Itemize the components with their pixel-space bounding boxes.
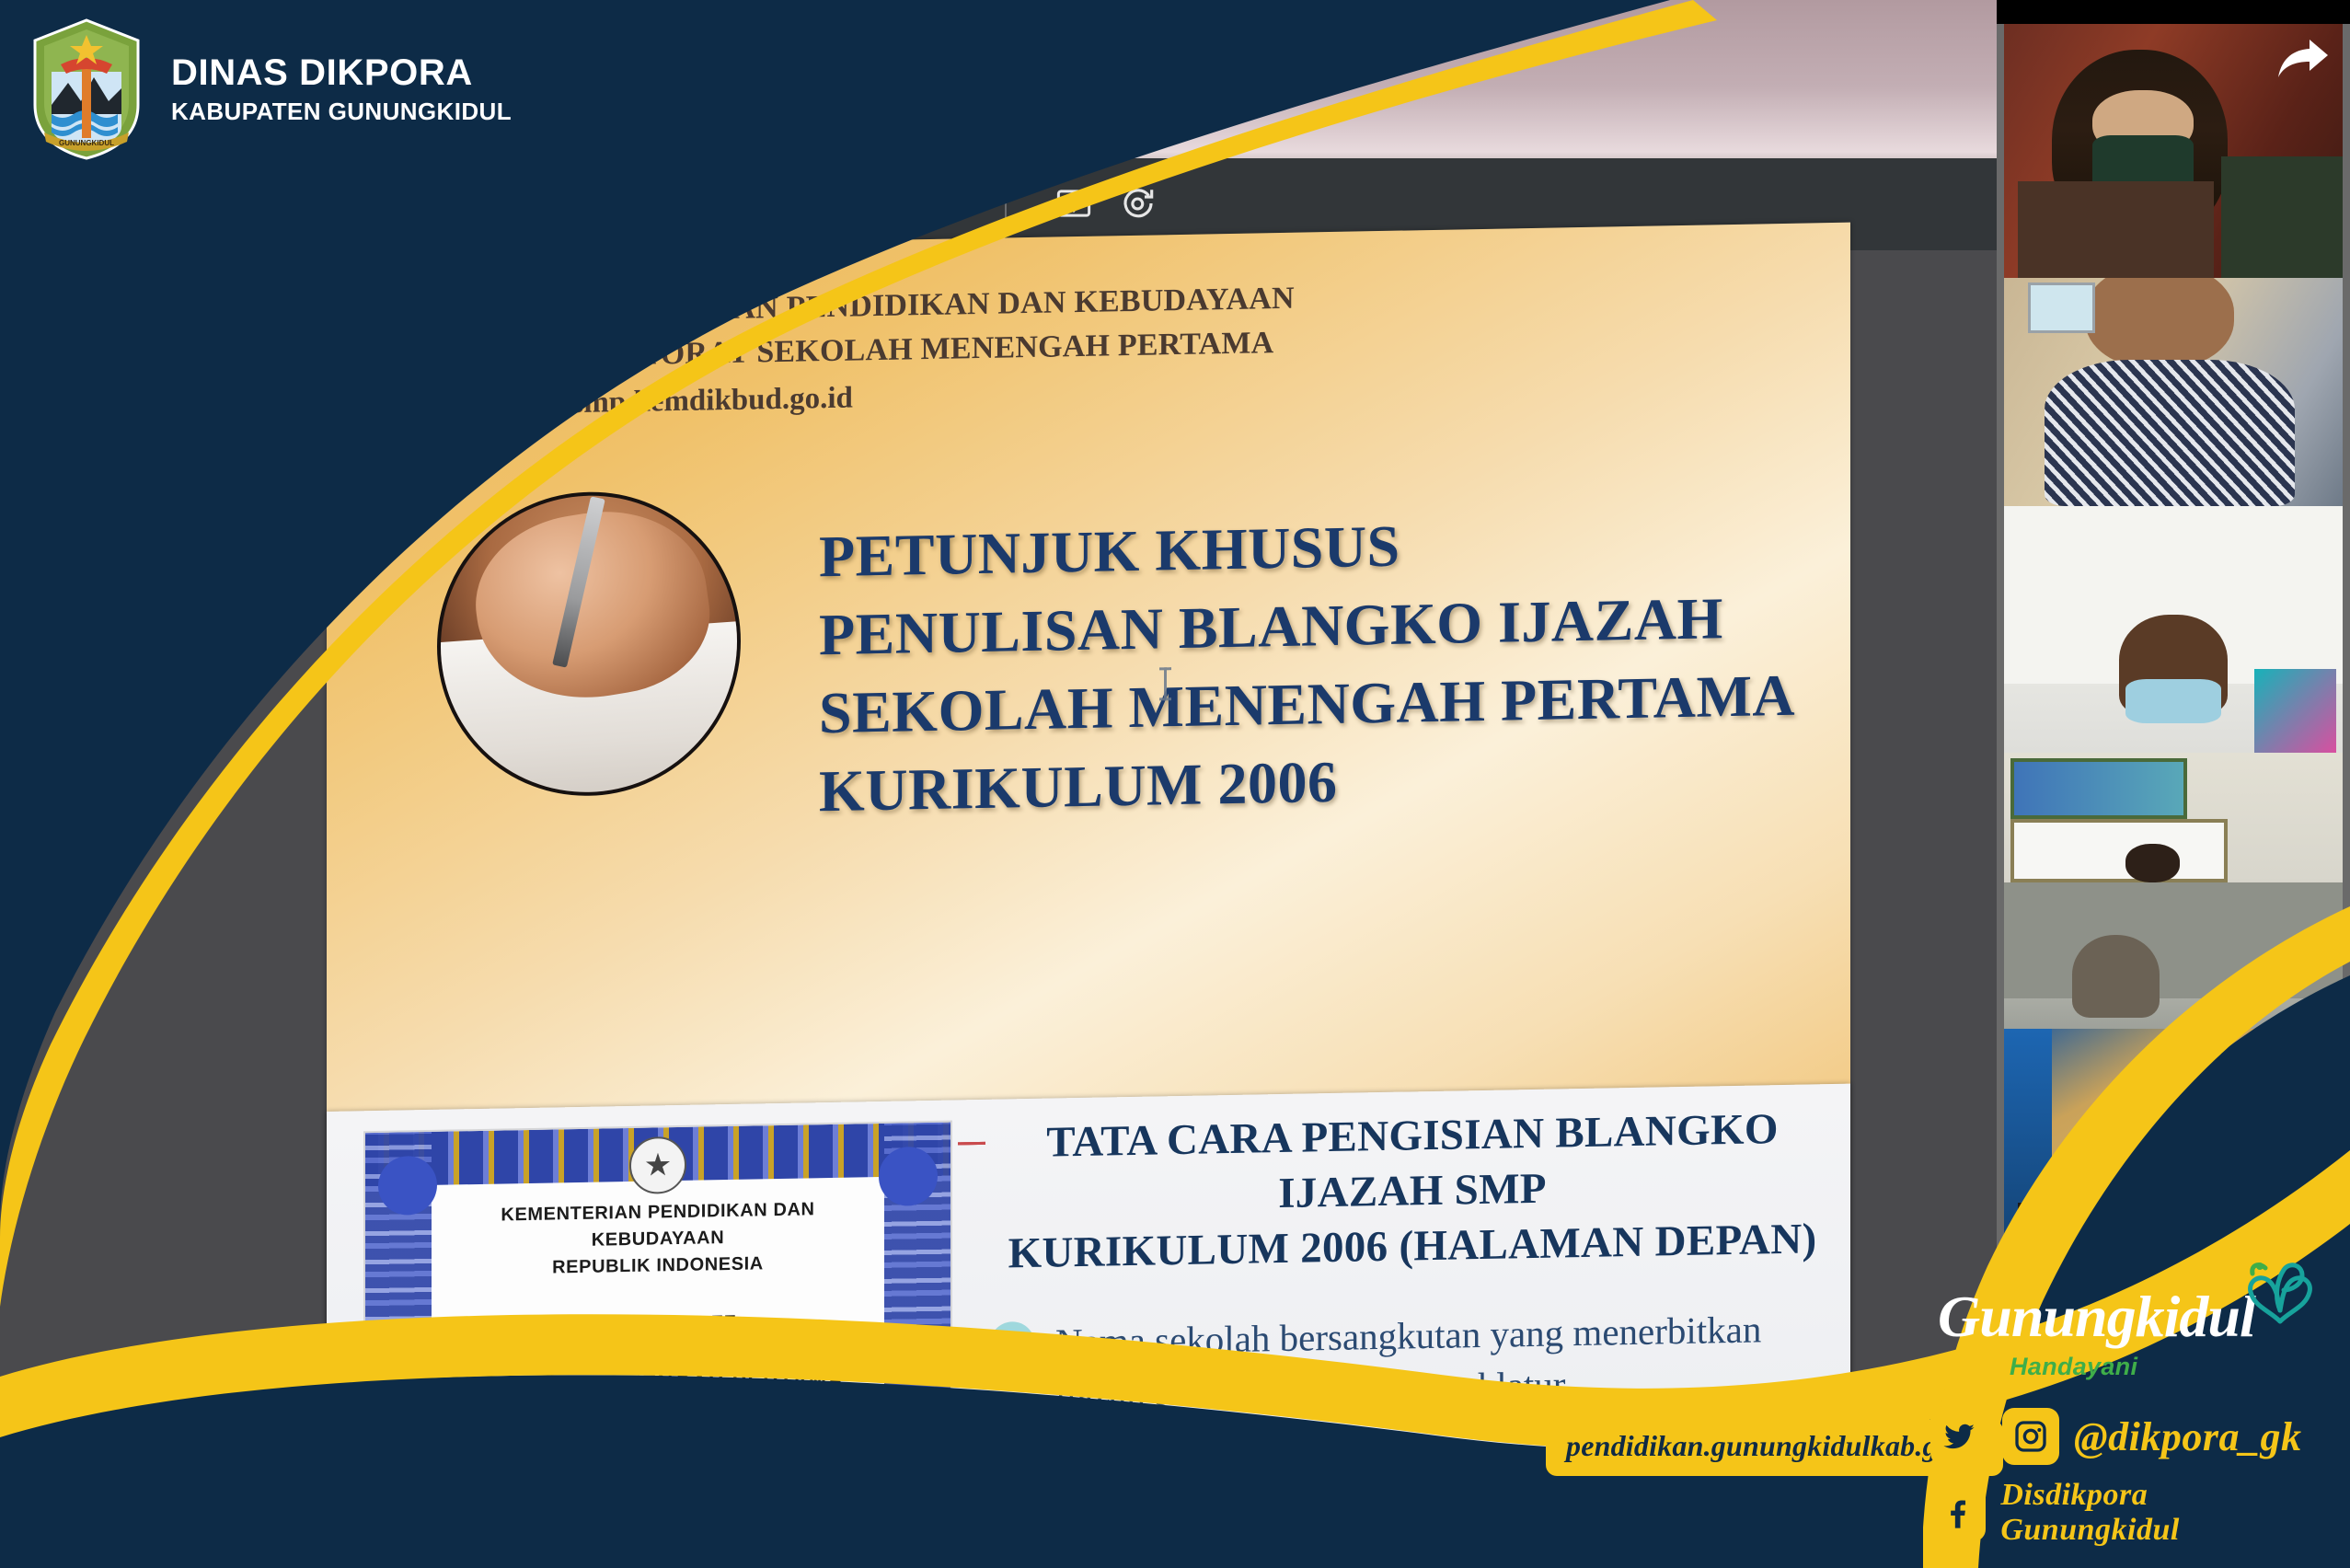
certificate-callout-2: 2 — [711, 1469, 752, 1510]
pdf-page-slide-instructions[interactable]: ★ KEMENTERIAN PENDIDIKAN DAN KEBUDAYAAN … — [327, 1084, 1850, 1568]
fit-page-icon[interactable] — [1051, 180, 1097, 226]
certificate-title: IJAZAH — [444, 1307, 871, 1349]
list-item-number: 3 — [989, 1541, 1035, 1568]
share-forward-icon[interactable] — [2276, 37, 2330, 81]
page-title: DINAS DIKPORA — [171, 52, 512, 94]
social-handle-facebook[interactable]: Disdikpora Gunungkidul — [2000, 1478, 2326, 1548]
screen-share-area: 12 / 55 − 100% + — [0, 0, 1997, 1568]
participant-tile-2[interactable] — [2004, 278, 2343, 506]
ijazah-certificate-preview: ★ KEMENTERIAN PENDIDIKAN DAN KEBUDAYAAN … — [363, 1121, 952, 1568]
twitter-bird-icon[interactable] — [1930, 1408, 1987, 1465]
list-item-number: 2 — [989, 1457, 1035, 1505]
svg-text:TUT WURI: TUT WURI — [410, 280, 460, 292]
pdf-toolbar: 12 / 55 − 100% + — [603, 162, 1161, 245]
list-item-number: 1 — [989, 1321, 1035, 1370]
gunungkidul-logo-tagline: Handayani — [2010, 1353, 2137, 1381]
certificate-ministry-line-1: KEMENTERIAN PENDIDIKAN DAN KEBUDAYAAN — [444, 1195, 871, 1257]
toolbar-divider-2 — [1005, 185, 1007, 222]
list-item-text: Nama sekolah bersangkutan yang menerbitk… — [1055, 1303, 1836, 1419]
slide-title-line-4: KURIKULUM 2006 — [819, 734, 1795, 831]
certificate-fields: Yang bertanda tangan di bawah ini, Kepal… — [450, 1420, 871, 1568]
gunungkidul-regency-crest: GUNUNGKIDUL — [24, 17, 149, 162]
social-row-facebook: Disdikpora Gunungkidul — [1930, 1478, 2326, 1548]
certificate-field-row: Yang bertanda tangan di bawah ini, Kepal… — [450, 1420, 871, 1449]
slide-ministry-heading: KEMENTERIAN PENDIDIKAN DAN KEBUDAYAAN DI… — [536, 277, 1295, 427]
certificate-callout-1: 1 — [776, 1410, 816, 1451]
instructions-title-line-1: TATA CARA PENGISIAN BLANGKO IJAZAH SMP — [989, 1101, 1836, 1227]
social-handle-twitter-instagram[interactable]: @dikpora_gk — [2074, 1413, 2301, 1460]
certificate-field-label: Yang bertanda tangan di bawah ini, Kepal… — [450, 1423, 713, 1443]
participant-tile-1[interactable] — [2004, 24, 2343, 278]
zoom-out-button[interactable]: − — [778, 185, 828, 222]
certificate-field-row: Nomor Pokok Sekolah Nasional : 2 — [450, 1477, 871, 1506]
page-subtitle: KABUPATEN GUNUNGKIDUL — [171, 98, 512, 126]
gunungkidul-logo-text: Gunungkidul — [1938, 1283, 2255, 1351]
page-number-input[interactable]: 12 — [603, 184, 653, 224]
list-item-text: Nama nomenklatur kabupaten/kota*) (coret… — [1055, 1523, 1836, 1568]
hand-writing-photo — [437, 490, 741, 799]
instagram-camera-icon[interactable] — [2002, 1408, 2059, 1465]
certificate-field-label: Nomor Pokok Sekolah Nasional : — [450, 1482, 652, 1501]
screenshot-stage: 12 / 55 − 100% + — [0, 0, 2350, 1568]
header-branding: GUNUNGKIDUL DINAS DIKPORA KABUPATEN GUNU… — [24, 17, 512, 162]
text-cursor-caret — [1164, 667, 1167, 700]
participant-tile-5[interactable] — [2004, 1029, 2343, 1270]
list-item: 3 Nama nomenklatur kabupaten/kota*) (cor… — [989, 1523, 1836, 1568]
list-item: 1 Nama sekolah bersangkutan yang menerbi… — [989, 1303, 1836, 1421]
total-pages-label: 55 — [688, 190, 716, 218]
rotate-clockwise-icon[interactable] — [1115, 180, 1161, 226]
tut-wuri-handayani-logo: TUT WURI — [356, 271, 514, 457]
gunungkidul-logo: Gunungkidul Handayani — [1930, 1257, 2326, 1395]
instructions-title: TATA CARA PENGISIAN BLANGKO IJAZAH SMP K… — [989, 1101, 1836, 1282]
gunungkidul-butterfly-icon — [2238, 1253, 2322, 1332]
certificate-level: SEKOLAH MENENGAH PERTAMA — [444, 1366, 871, 1400]
footer-branding: Gunungkidul Handayani @dikpora_gk — [1930, 1257, 2326, 1548]
instructions-panel: TATA CARA PENGISIAN BLANGKO IJAZAH SMP K… — [989, 1101, 1836, 1568]
zoom-in-button[interactable]: + — [929, 185, 979, 222]
certificate-header: KEMENTERIAN PENDIDIKAN DAN KEBUDAYAAN RE… — [444, 1195, 871, 1422]
participant-tile-3[interactable] — [2004, 506, 2343, 753]
page-separator: / — [662, 190, 670, 218]
certificate-field-label: Kabupaten/Kota — [450, 1540, 549, 1558]
certificate-field-row: Kabupaten/Kota 3 — [450, 1534, 871, 1563]
social-row-twitter-instagram: @dikpora_gk — [1930, 1408, 2326, 1465]
video-top-black-bar — [1997, 0, 2350, 24]
toolbar-divider-1 — [751, 185, 753, 222]
svg-text:GUNUNGKIDUL: GUNUNGKIDUL — [59, 139, 114, 147]
participant-tile-4[interactable] — [2004, 753, 2343, 1029]
slide-title: PETUNJUK KHUSUS PENULISAN BLANGKO IJAZAH… — [819, 500, 1795, 831]
garuda-emblem-icon: ★ — [629, 1136, 686, 1194]
facebook-f-icon[interactable] — [1930, 1484, 1986, 1541]
zoom-level-input[interactable]: 100% — [834, 183, 925, 225]
certificate-callout-3: 3 — [601, 1528, 641, 1568]
